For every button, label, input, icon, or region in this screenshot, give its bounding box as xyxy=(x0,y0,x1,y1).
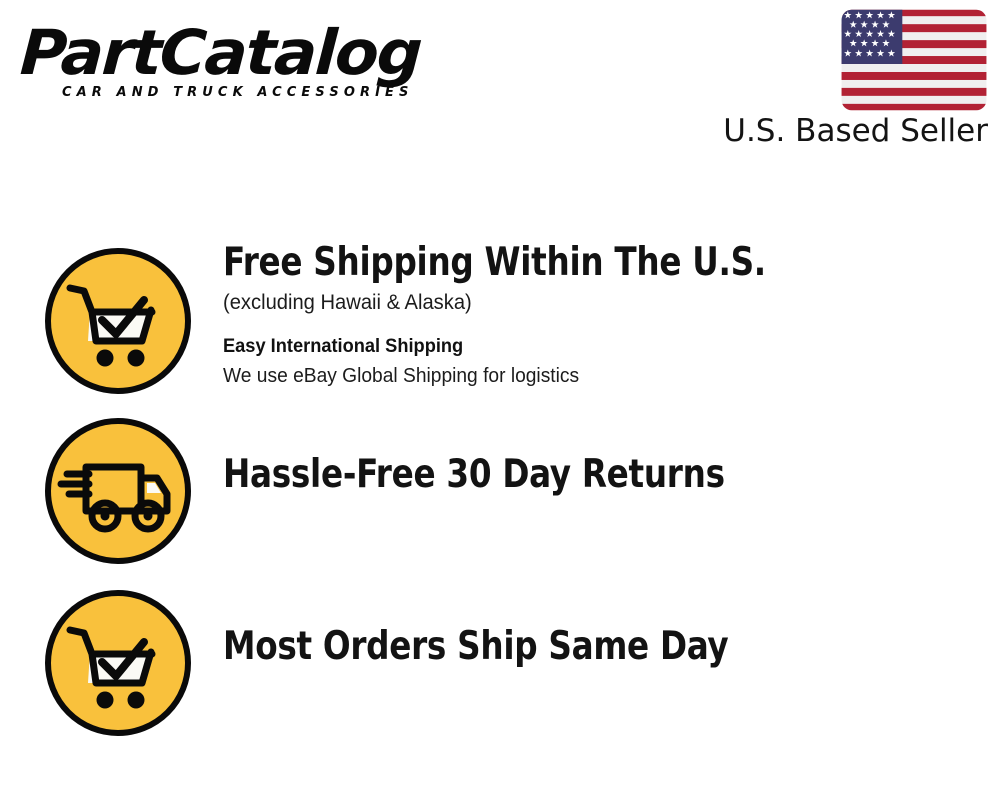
seller-label: U.S. Based Seller xyxy=(720,114,988,148)
delivery-truck-icon xyxy=(43,416,193,566)
feature-row: Most Orders Ship Same Day xyxy=(0,584,1000,756)
feature-text: Most Orders Ship Same Day xyxy=(193,584,1000,668)
shopping-cart-check-icon xyxy=(43,588,193,738)
shopping-cart-check-icon xyxy=(43,246,193,396)
feature-note: (excluding Hawaii & Alaska) xyxy=(223,289,969,317)
feature-list: Free Shipping Within The U.S. (excluding… xyxy=(0,240,1000,756)
us-flag-icon xyxy=(840,8,988,112)
feature-subheading: Easy International Shipping xyxy=(223,335,969,360)
feature-heading: Most Orders Ship Same Day xyxy=(223,626,946,668)
feature-heading: Hassle-Free 30 Day Returns xyxy=(223,454,946,496)
feature-subnote: We use eBay Global Shipping for logistic… xyxy=(223,363,969,390)
feature-text: Free Shipping Within The U.S. (excluding… xyxy=(193,240,1000,390)
feature-text: Hassle-Free 30 Day Returns xyxy=(193,412,1000,496)
feature-row: Free Shipping Within The U.S. (excluding… xyxy=(0,240,1000,412)
feature-heading: Free Shipping Within The U.S. xyxy=(223,242,946,284)
partcatalog-logo: PartCatalog CAR AND TRUCK ACCESSORIES xyxy=(22,22,492,114)
promo-banner: PartCatalog CAR AND TRUCK ACCESSORIES xyxy=(0,0,1000,800)
us-based-seller-badge: U.S. Based Seller xyxy=(720,8,990,148)
brand-wordmark: PartCatalog xyxy=(19,22,506,84)
feature-row: Hassle-Free 30 Day Returns xyxy=(0,412,1000,584)
